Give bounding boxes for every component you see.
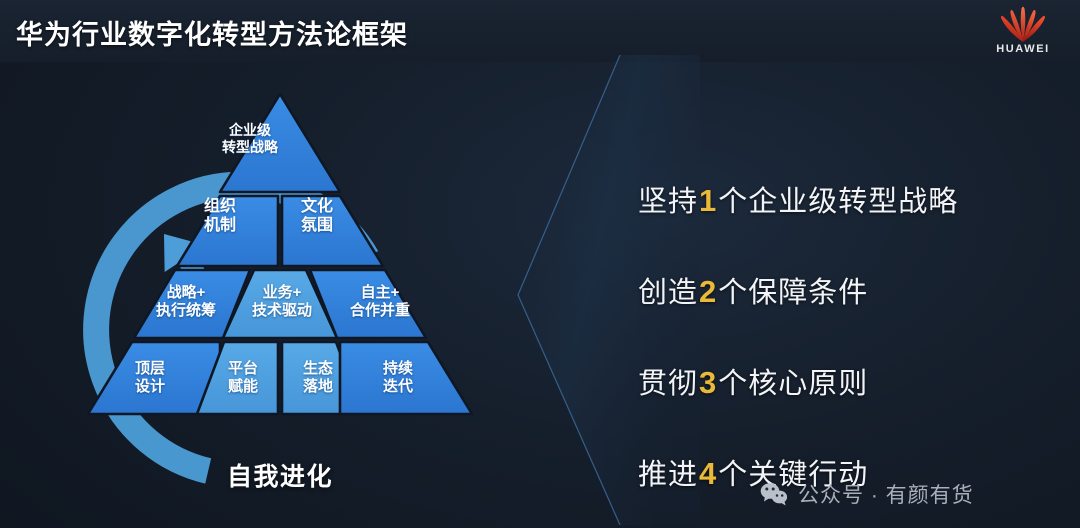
key-point-1: 坚持1个企业级转型战略 [638, 178, 1058, 220]
key-point-prefix: 贯彻 [638, 368, 698, 400]
huawei-wordmark: HUAWEI [988, 43, 1058, 55]
pyramid-tile-1-1 [220, 94, 340, 192]
huawei-flower-icon [988, 5, 1058, 45]
wechat-icon [760, 482, 789, 507]
huawei-logo: HUAWEI [988, 5, 1058, 57]
pyramid-caption: 自我进化 [0, 457, 560, 493]
key-point-2: 创造2个保障条件 [638, 269, 1058, 311]
pyramid-tile-2-2 [282, 196, 383, 266]
key-points-list: 坚持1个企业级转型战略 创造2个保障条件 贯彻3个核心原则 推进4个关键行动 [638, 178, 1058, 528]
watermark-text: 公众号 · 有颜有货 [798, 479, 974, 509]
pyramid-tile-4-4 [340, 342, 472, 414]
page-title: 华为行业数字化转型方法论框架 [16, 13, 408, 52]
key-point-suffix: 个保障条件 [718, 277, 868, 309]
key-point-suffix: 个企业级转型战略 [718, 186, 958, 218]
key-point-number: 4 [698, 456, 718, 491]
key-point-prefix: 坚持 [638, 186, 698, 218]
key-point-3: 贯彻3个核心原则 [638, 360, 1058, 402]
key-point-suffix: 个核心原则 [718, 368, 868, 400]
slide-header: 华为行业数字化转型方法论框架 [0, 0, 1080, 62]
key-point-prefix: 推进 [638, 459, 698, 491]
pyramid-tile-2-1 [177, 196, 278, 266]
key-point-number: 1 [698, 183, 718, 218]
pyramid-diagram [80, 92, 480, 422]
key-point-number: 3 [698, 365, 718, 400]
slide-canvas: 华为行业数字化转型方法论框架 [0, 0, 1080, 528]
key-point-number: 2 [698, 274, 718, 309]
watermark: 公众号 · 有颜有货 [760, 479, 974, 509]
key-point-prefix: 创造 [638, 277, 698, 309]
